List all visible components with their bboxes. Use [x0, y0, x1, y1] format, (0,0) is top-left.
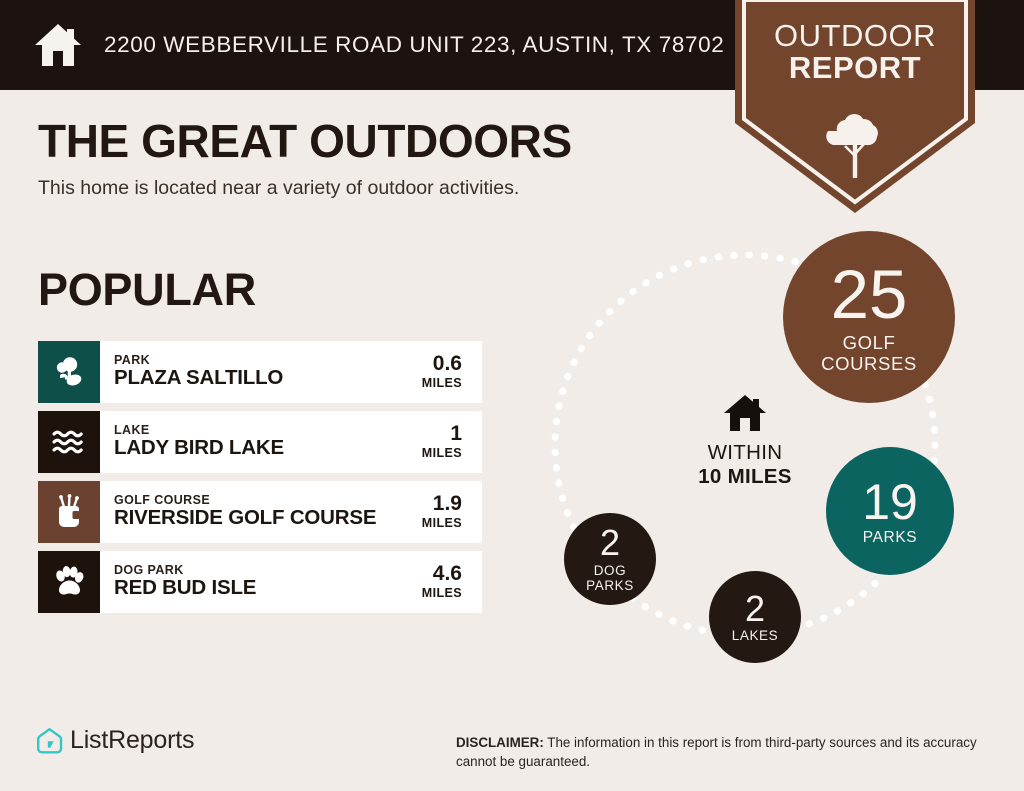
stat-value: 25: [831, 260, 908, 329]
home-icon: [34, 22, 82, 68]
stat-value: 2: [745, 591, 765, 627]
stat-label: LAKES: [732, 629, 779, 643]
stat-label: DOG PARKS: [586, 563, 634, 594]
row-name: RIVERSIDE GOLF COURSE: [114, 507, 422, 530]
row-name: PLAZA SALTILLO: [114, 367, 422, 390]
stat-label-line-1: DOG: [594, 563, 627, 578]
row-text: LAKE LADY BIRD LAKE: [100, 411, 422, 473]
row-category: LAKE: [114, 424, 422, 438]
water-waves-icon: [51, 427, 87, 457]
row-text: GOLF COURSE RIVERSIDE GOLF COURSE: [100, 481, 422, 543]
disclaimer: DISCLAIMER: The information in this repo…: [456, 733, 996, 771]
row-distance: 4.6 MILES: [422, 551, 482, 613]
row-name: RED BUD ISLE: [114, 577, 422, 600]
stat-bubble-parks[interactable]: 19 PARKS: [826, 447, 954, 575]
outdoor-report-badge: OUTDOOR REPORT: [735, 0, 975, 213]
lake-icon-tile: [38, 411, 100, 473]
stat-label-line-2: COURSES: [821, 353, 917, 374]
stat-value: 19: [862, 477, 918, 527]
center-line-2: 10 MILES: [680, 465, 810, 489]
home-icon: [723, 393, 767, 433]
row-distance: 0.6 MILES: [422, 341, 482, 403]
list-item[interactable]: PARK PLAZA SALTILLO 0.6 MILES: [38, 341, 482, 403]
distance-value: 4.6: [433, 563, 462, 585]
listreports-wordmark: ListReports: [70, 726, 194, 755]
distance-unit: MILES: [422, 586, 462, 601]
stat-label-line-1: GOLF: [843, 332, 896, 353]
page-title: THE GREAT OUTDOORS: [38, 118, 572, 164]
row-text: PARK PLAZA SALTILLO: [100, 341, 422, 403]
disclaimer-label: DISCLAIMER:: [456, 735, 544, 750]
golf-bag-icon: [53, 494, 85, 530]
stat-bubble-dog-parks[interactable]: 2 DOG PARKS: [564, 513, 656, 605]
row-text: DOG PARK RED BUD ISLE: [100, 551, 422, 613]
stat-bubble-lakes[interactable]: 2 LAKES: [709, 571, 801, 663]
popular-list: PARK PLAZA SALTILLO 0.6 MILES LAKE LADY …: [38, 341, 482, 621]
popular-heading: POPULAR: [38, 267, 256, 312]
golf-icon-tile: [38, 481, 100, 543]
distance-value: 0.6: [433, 353, 462, 375]
listreports-logo[interactable]: ListReports: [36, 726, 194, 755]
list-item[interactable]: LAKE LADY BIRD LAKE 1 MILES: [38, 411, 482, 473]
stat-label: PARKS: [863, 530, 917, 546]
list-item[interactable]: DOG PARK RED BUD ISLE 4.6 MILES: [38, 551, 482, 613]
park-icon-tile: [38, 341, 100, 403]
stat-label: GOLF COURSES: [821, 333, 917, 374]
stat-value: 2: [600, 525, 620, 561]
row-category: GOLF COURSE: [114, 494, 422, 508]
park-tree-icon: [51, 354, 87, 390]
distance-unit: MILES: [422, 446, 462, 461]
stat-bubble-golf-courses[interactable]: 25 GOLF COURSES: [783, 231, 955, 403]
dogpark-icon-tile: [38, 551, 100, 613]
row-category: PARK: [114, 354, 422, 368]
listreports-house-icon: [36, 727, 63, 755]
stat-label-line-2: PARKS: [586, 578, 634, 593]
page-subtitle: This home is located near a variety of o…: [38, 177, 572, 200]
paw-print-icon: [52, 565, 86, 599]
list-item[interactable]: GOLF COURSE RIVERSIDE GOLF COURSE 1.9 MI…: [38, 481, 482, 543]
distance-unit: MILES: [422, 516, 462, 531]
diagram-center-label: WITHIN 10 MILES: [680, 393, 810, 488]
header-address: 2200 WEBBERVILLE ROAD UNIT 223, AUSTIN, …: [104, 32, 724, 58]
within-10-miles-diagram: 25 GOLF COURSES 19 PARKS 2 DOG PARKS 2 L…: [520, 215, 1024, 685]
row-category: DOG PARK: [114, 564, 422, 578]
distance-value: 1: [450, 423, 462, 445]
row-distance: 1.9 MILES: [422, 481, 482, 543]
center-line-1: WITHIN: [680, 441, 810, 465]
distance-unit: MILES: [422, 376, 462, 391]
distance-value: 1.9: [433, 493, 462, 515]
row-name: LADY BIRD LAKE: [114, 437, 422, 460]
row-distance: 1 MILES: [422, 411, 482, 473]
title-block: THE GREAT OUTDOORS This home is located …: [38, 118, 572, 200]
